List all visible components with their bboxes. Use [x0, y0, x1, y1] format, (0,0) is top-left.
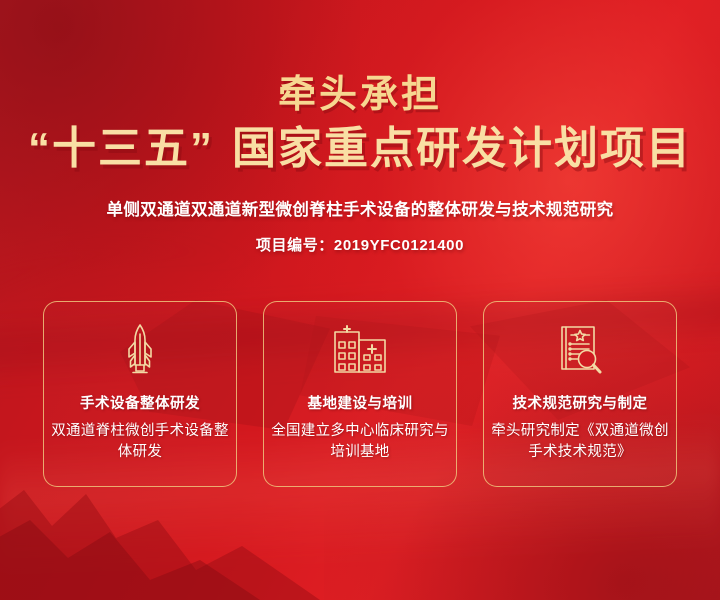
card-body: 全国建立多中心临床研究与培训基地: [264, 421, 456, 463]
title-line-1: 牵头承担: [0, 74, 720, 117]
poster-header: 牵头承担 “十三五”国家重点研发计划项目 单侧双通道双通道新型微创脊柱手术设备的…: [0, 0, 720, 255]
feature-card-standards[interactable]: 技术规范研究与制定 牵头研究制定《双通道微创手术技术规范》: [483, 301, 677, 487]
title-line-2: “十三五”国家重点研发计划项目: [0, 123, 720, 174]
project-number: 项目编号：2019YFC0121400: [0, 234, 720, 255]
rocket-icon: [118, 322, 162, 378]
feature-card-list: 手术设备整体研发 双通道脊柱微创手术设备整体研发: [0, 301, 720, 487]
card-heading: 基地建设与培训: [308, 392, 413, 413]
feature-card-training-base[interactable]: 基地建设与培训 全国建立多中心临床研究与培训基地: [263, 301, 457, 487]
poster-subtitle: 单侧双通道双通道新型微创脊柱手术设备的整体研发与技术规范研究: [0, 196, 720, 220]
card-body: 双通道脊柱微创手术设备整体研发: [44, 421, 236, 463]
hospital-icon: [331, 322, 389, 378]
card-body: 牵头研究制定《双通道微创手术技术规范》: [484, 421, 676, 463]
title-quoted-phrase: “十三五”: [28, 124, 214, 173]
title-rest-phrase: 国家重点研发计划项目: [232, 124, 692, 173]
poster-banner: 牵头承担 “十三五”国家重点研发计划项目 单侧双通道双通道新型微创脊柱手术设备的…: [0, 0, 720, 600]
document-search-icon: [554, 322, 606, 378]
card-heading: 技术规范研究与制定: [513, 392, 648, 413]
feature-card-equipment[interactable]: 手术设备整体研发 双通道脊柱微创手术设备整体研发: [43, 301, 237, 487]
card-heading: 手术设备整体研发: [80, 392, 200, 413]
